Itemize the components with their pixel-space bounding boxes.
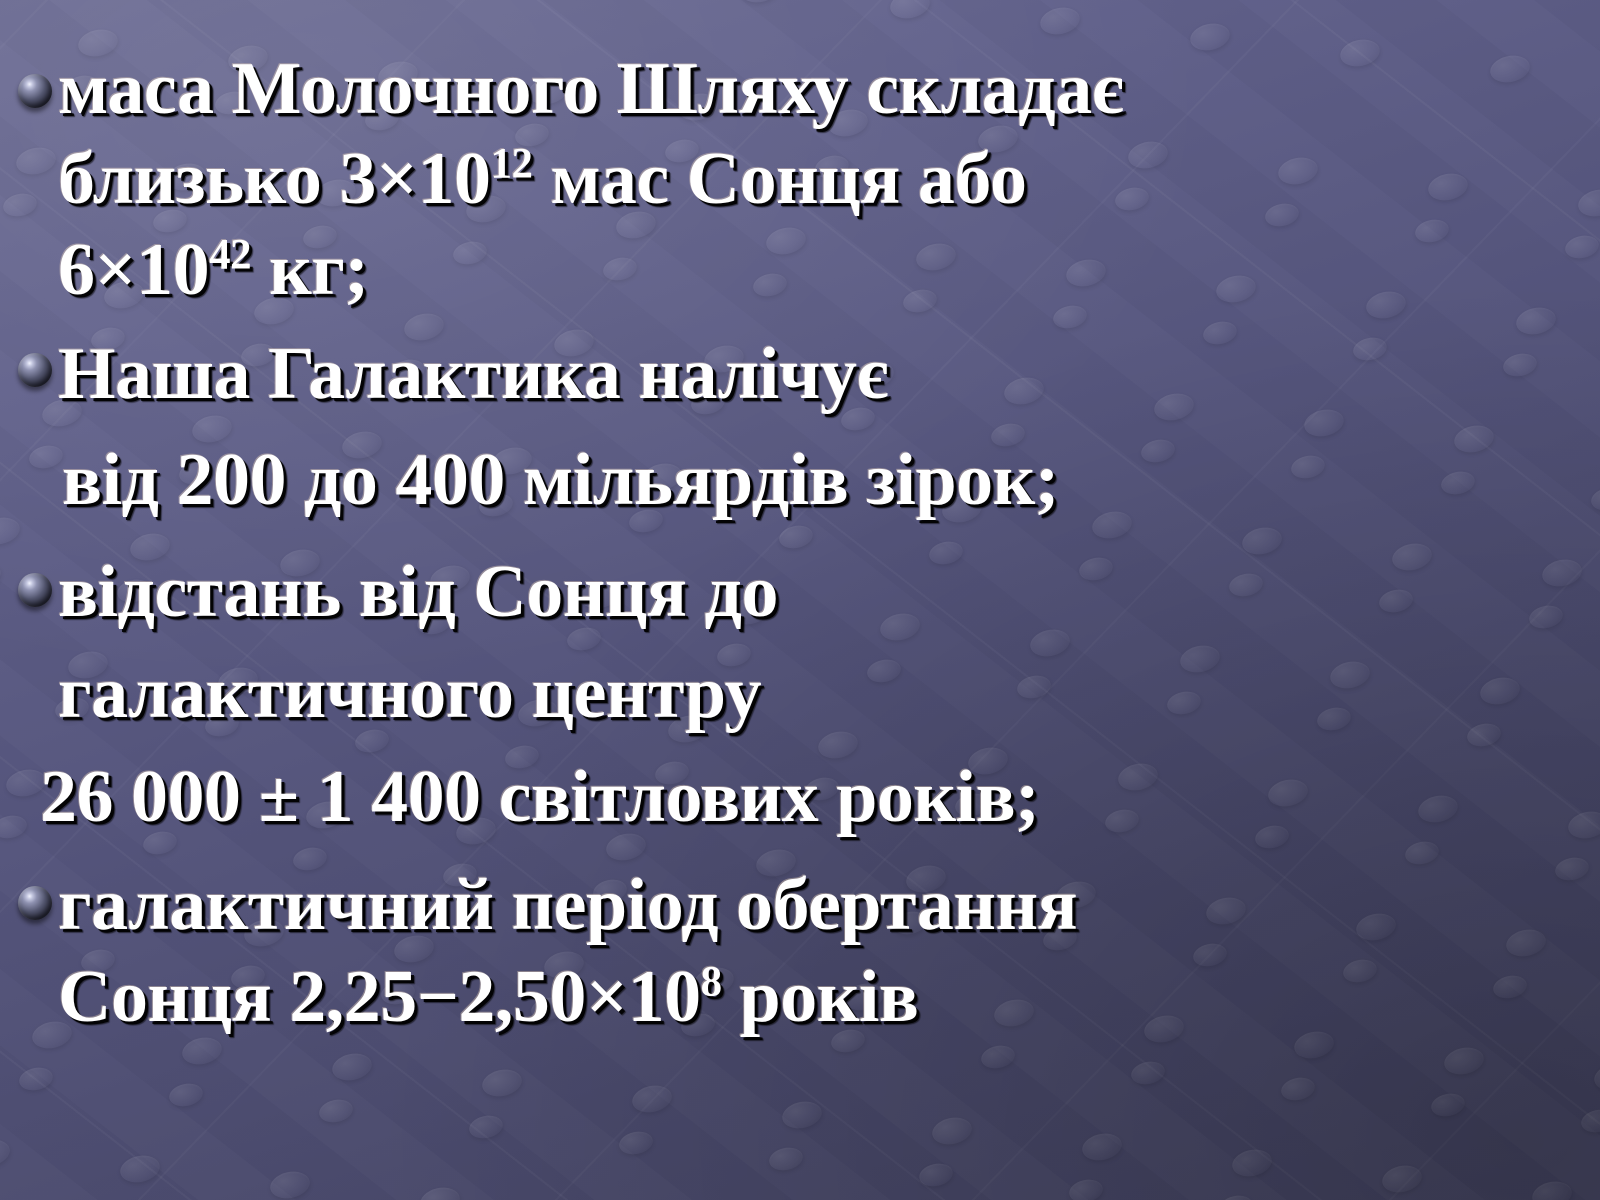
sphere-bullet-icon	[18, 353, 52, 387]
bullet-item: галактичний період обертання Сонця 2,25−…	[18, 860, 1560, 1043]
line-text: близько 3×10	[58, 138, 491, 220]
line-text: галактичний період обертання	[58, 864, 1077, 946]
line-text: маса Молочного Шляху складає	[58, 48, 1123, 130]
bullet-line: відстань від Сонця до	[58, 547, 1560, 637]
bullet-text: галактичний період обертання Сонця 2,25−…	[58, 860, 1560, 1043]
bullet-item: відстань від Сонця до галактичного центр…	[18, 547, 1560, 842]
bullet-item: Наша Галактика налічує від 200 до 400 мі…	[18, 329, 1560, 526]
bullet-line: Сонця 2,25−2,50×108 років	[58, 952, 1560, 1042]
line-text: Наша Галактика налічує	[58, 333, 888, 415]
bullet-line: маса Молочного Шляху складає	[58, 44, 1560, 134]
line-text-tail: кг;	[251, 229, 368, 311]
bullet-text: відстань від Сонця до галактичного центр…	[58, 547, 1560, 842]
line-text: галактичного центру	[58, 652, 761, 734]
bullet-line: Наша Галактика налічує	[58, 329, 1560, 419]
bullet-text: Наша Галактика налічує від 200 до 400 мі…	[58, 329, 1560, 526]
bullet-line: 26 000 ± 1 400 світлових років;	[40, 752, 1560, 842]
sphere-bullet-icon	[18, 573, 52, 607]
bullet-line: галактичний період обертання	[58, 860, 1560, 950]
exponent: 12	[491, 141, 533, 188]
sphere-bullet-icon	[18, 886, 52, 920]
presentation-slide: маса Молочного Шляху складає близько 3×1…	[0, 0, 1600, 1200]
bullet-item: маса Молочного Шляху складає близько 3×1…	[18, 44, 1560, 315]
line-text-tail: років	[722, 956, 919, 1038]
exponent: 8	[701, 959, 722, 1006]
bullet-line: близько 3×1012 мас Сонця або	[58, 134, 1560, 224]
exponent: 42	[209, 231, 251, 278]
bullet-line: галактичного центру	[58, 648, 1560, 738]
line-text: Сонця 2,25−2,50×10	[58, 956, 701, 1038]
slide-body: маса Молочного Шляху складає близько 3×1…	[0, 0, 1600, 1200]
line-text: 6×10	[58, 229, 209, 311]
bullet-text: маса Молочного Шляху складає близько 3×1…	[58, 44, 1560, 315]
line-text: від 200 до 400 мільярдів зірок;	[62, 439, 1059, 521]
bullet-line: від 200 до 400 мільярдів зірок;	[62, 435, 1560, 525]
sphere-bullet-icon	[18, 74, 52, 108]
line-text-tail: мас Сонця або	[532, 138, 1026, 220]
line-text: відстань від Сонця до	[58, 551, 778, 633]
bullet-line: 6×1042 кг;	[58, 225, 1560, 315]
line-text: 26 000 ± 1 400 світлових років;	[40, 756, 1039, 838]
